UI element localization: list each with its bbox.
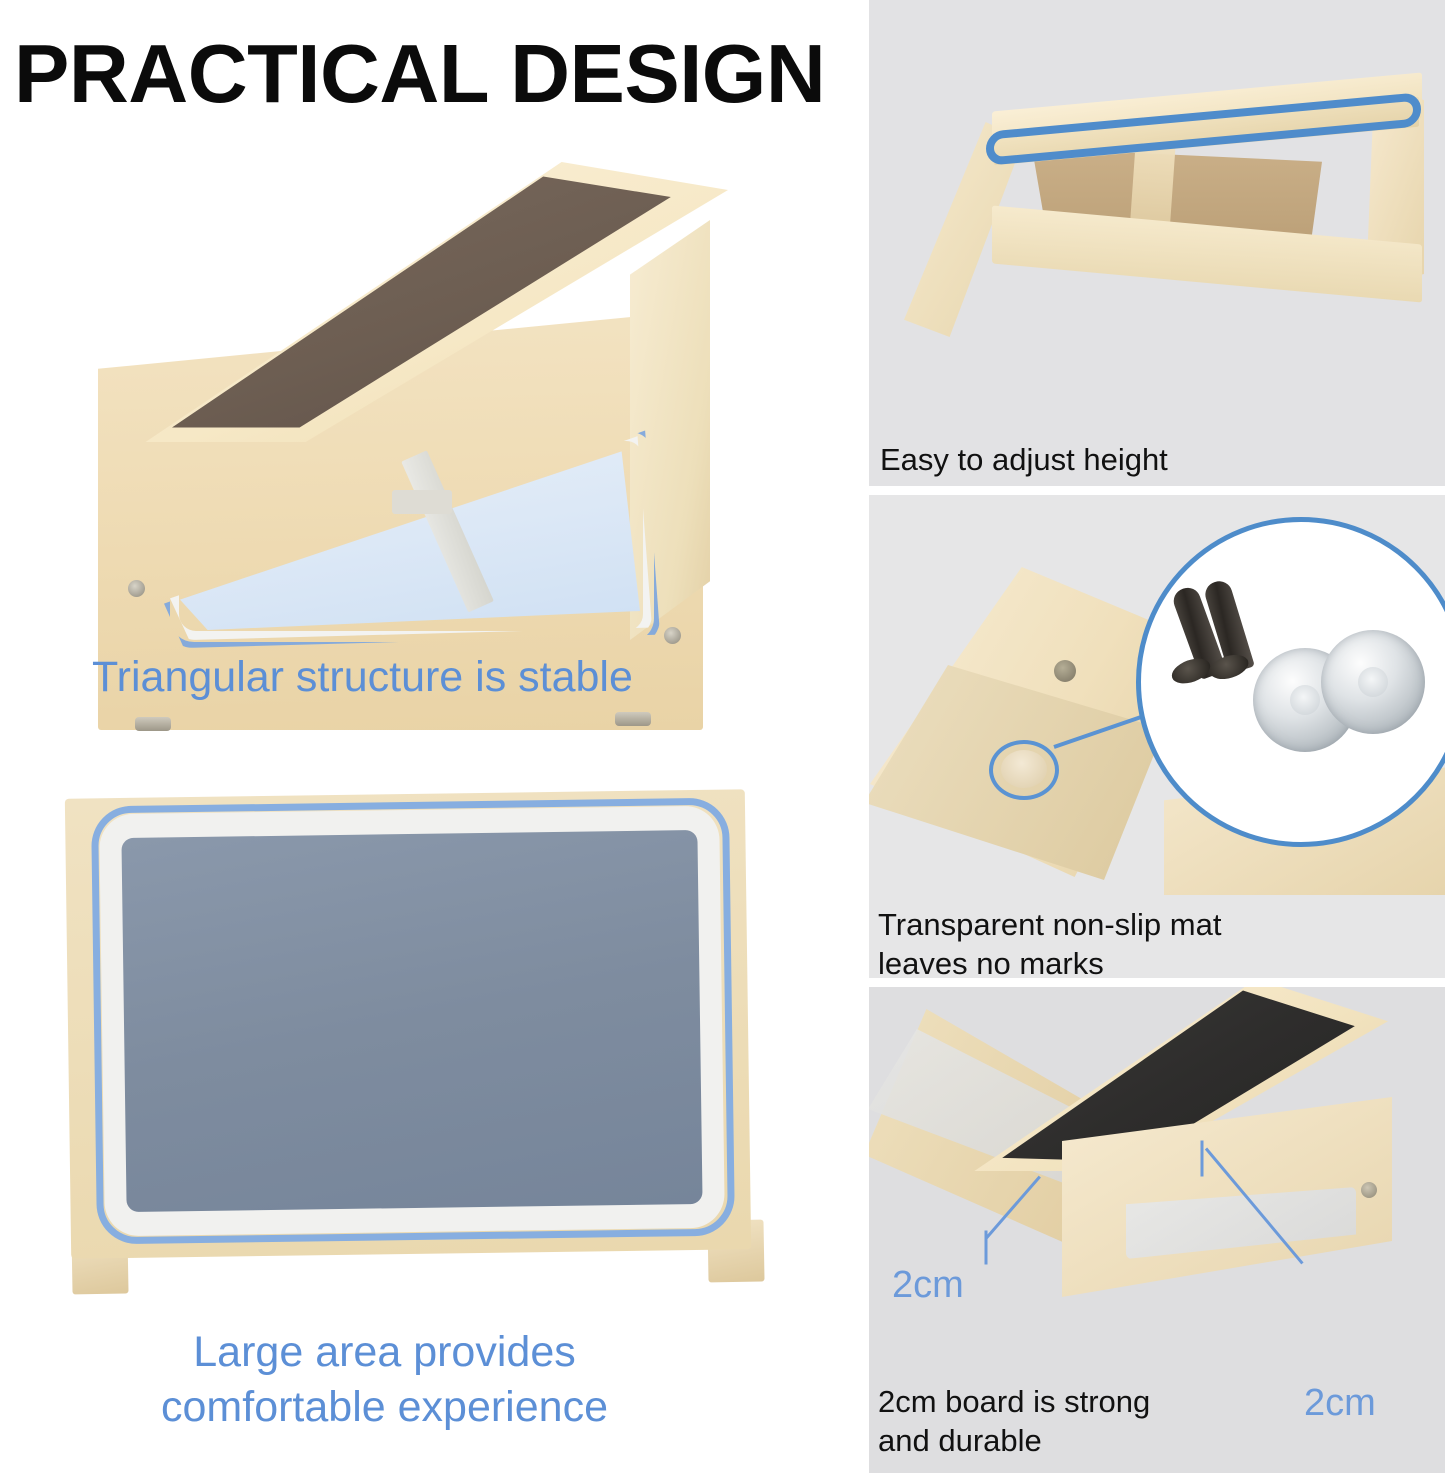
caption-line-1: 2cm board is strong <box>878 1382 1150 1421</box>
product-photo-top-view <box>58 790 773 1290</box>
caption-line-2: and durable <box>878 1421 1150 1460</box>
caption-line-1: Transparent non-slip mat <box>878 905 1221 944</box>
magnifier-inset <box>1136 517 1445 847</box>
rubber-foot <box>615 712 651 726</box>
measurement-label-right: 2cm <box>1304 1382 1376 1425</box>
footrest-thickness-illustration <box>864 987 1445 1387</box>
screw-hole-icon <box>1054 660 1076 682</box>
feature-caption-large-area: Large area provides comfortable experien… <box>0 1325 864 1435</box>
panel-caption-board-thickness: 2cm board is strong and durable <box>878 1382 1150 1461</box>
panel-divider <box>864 486 1445 495</box>
right-column: Easy to adjust height <box>864 0 1445 1473</box>
feature-caption-triangular: Triangular structure is stable <box>92 650 633 705</box>
panel-board-thickness: 2cm 2cm 2cm board is strong and durable <box>864 987 1445 1473</box>
panel-divider <box>864 978 1445 987</box>
rubber-foot <box>135 717 171 731</box>
measurement-label-left: 2cm <box>892 1264 964 1307</box>
screw-icon <box>1361 1182 1377 1198</box>
panel-caption-adjust-height: Easy to adjust height <box>880 440 1168 479</box>
infographic-poster: PRACTICAL DESIGN Triangular structure i <box>0 0 1445 1473</box>
pad-center-hole <box>1290 685 1320 715</box>
panel-adjust-height: Easy to adjust height <box>864 0 1445 487</box>
screw-icon <box>664 627 681 644</box>
left-column: PRACTICAL DESIGN Triangular structure i <box>0 0 864 1473</box>
caption-line-2: comfortable experience <box>0 1380 769 1435</box>
page-title: PRACTICAL DESIGN <box>14 32 825 115</box>
blue-highlight-outline-board <box>91 798 735 1245</box>
pad-center-hole <box>1358 667 1388 697</box>
product-photo-side-view <box>70 140 770 630</box>
caption-line-1: Large area provides <box>0 1325 769 1380</box>
measurement-tick-2 <box>1201 1141 1204 1177</box>
screw-icon <box>128 580 145 597</box>
panel-non-slip-mat: Transparent non-slip mat leaves no marks <box>864 495 1445 979</box>
rear-view-illustration <box>882 50 1427 380</box>
corner-closeup-illustration <box>864 495 1445 895</box>
measurement-tick-1 <box>985 1231 988 1265</box>
blue-circle-highlight-pad <box>989 740 1059 800</box>
caption-line-2: leaves no marks <box>878 944 1221 979</box>
panel-caption-non-slip-mat: Transparent non-slip mat leaves no marks <box>878 905 1221 979</box>
photo-stage <box>70 140 770 630</box>
